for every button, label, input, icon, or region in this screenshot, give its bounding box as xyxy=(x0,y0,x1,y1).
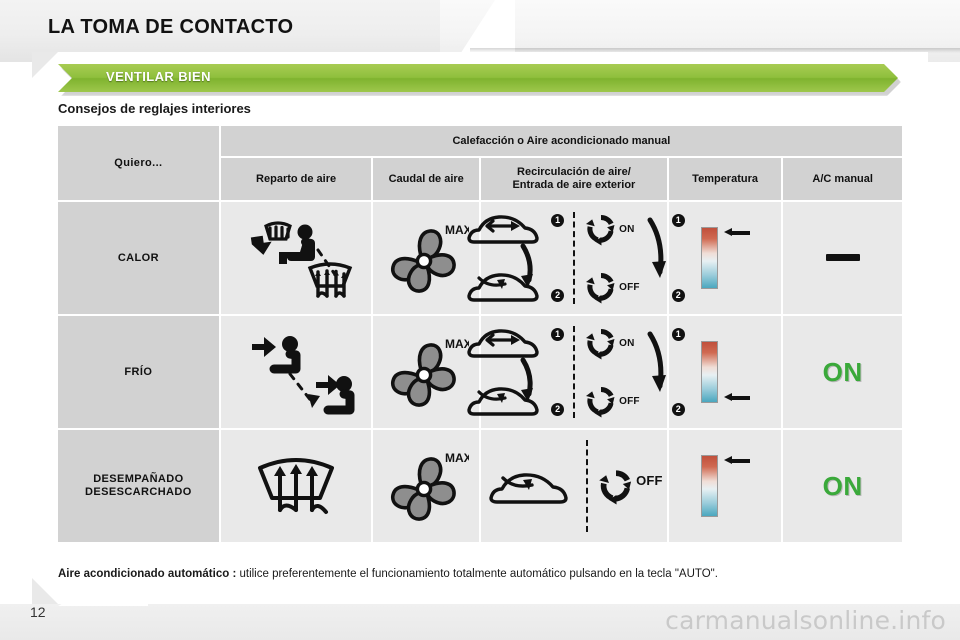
fan-max-label: MAX xyxy=(445,451,469,465)
row-label-line2: DESESCARCHADO xyxy=(85,486,192,498)
header-caudal-de-aire: Caudal de aire xyxy=(373,158,479,200)
recirc-car-group: 1 2 xyxy=(463,210,564,306)
car-fresh-air-icon xyxy=(485,464,577,508)
footer-note-bold: Aire acondicionado automático : xyxy=(58,568,236,580)
header-reparto-de-aire: Reparto de aire xyxy=(221,158,372,200)
recirc-step-number: 1 xyxy=(551,214,564,227)
gauge-arrow-wrap xyxy=(724,456,750,516)
airflow-face-vents-icon xyxy=(232,322,360,422)
recirc-onoff-group: ON xyxy=(584,326,685,418)
header-recirculacion-line2: Entrada de aire exterior xyxy=(512,179,635,191)
arrow-left-icon xyxy=(724,228,750,237)
row-label-frio: FRÍO xyxy=(58,316,219,428)
recirc-step-number: 1 xyxy=(672,328,685,341)
cell-desempanado-ac-manual: ON xyxy=(783,430,902,542)
fan-icon: MAX xyxy=(383,446,469,526)
row-label-line1: DESEMPAÑADO xyxy=(93,473,183,485)
cell-frio-ac-manual: ON xyxy=(783,316,902,428)
recirc-divider xyxy=(573,212,575,304)
recirculation-icon xyxy=(584,212,618,246)
temperature-gauge-icon xyxy=(669,455,782,517)
footer-note: Aire acondicionado automático : utilice … xyxy=(58,566,904,582)
cell-desempanado-reparto xyxy=(221,430,372,542)
cell-desempanado-caudal: MAX xyxy=(373,430,479,542)
recirculation-icon xyxy=(584,270,618,304)
table-row: DESEMPAÑADO DESESCARCHADO xyxy=(58,430,902,542)
recirculation-icon xyxy=(597,467,635,505)
recirc-onoff-group: OFF xyxy=(597,467,663,505)
recirc-step-number: 2 xyxy=(672,289,685,302)
page-title: LA TOMA DE CONTACTO xyxy=(48,16,293,39)
gauge-bar xyxy=(701,227,718,289)
right-margin xyxy=(928,62,960,604)
recirc-onoff-group: ON xyxy=(584,212,685,304)
gauge-bar xyxy=(701,455,718,517)
gauge-arrow-wrap xyxy=(724,228,750,288)
settings-table: Quiero... Calefacción o Aire acondiciona… xyxy=(56,124,904,544)
cell-frio-temperatura xyxy=(669,316,782,428)
header-recirculacion-line1: Recirculación de aire/ xyxy=(517,166,631,178)
recirc-off-label: OFF xyxy=(619,396,640,407)
header-group: Calefacción o Aire acondicionado manual xyxy=(221,126,902,156)
recirc-car-group: 1 2 xyxy=(463,324,564,420)
recirc-off-label: OFF xyxy=(619,282,640,293)
airflow-feet-and-windshield-icon xyxy=(232,210,360,306)
banner-label: VENTILAR BIEN xyxy=(106,69,211,84)
cell-frio-reparto xyxy=(221,316,372,428)
recirc-step-arrow-icon xyxy=(642,326,672,418)
arrow-left-icon xyxy=(724,393,750,402)
recirc-car-group xyxy=(485,464,577,508)
recirc-divider xyxy=(586,440,588,532)
cell-desempanado-temperatura xyxy=(669,430,782,542)
cell-calor-temperatura xyxy=(669,202,782,314)
cell-frio-recirculacion: 1 2 xyxy=(481,316,667,428)
row-label-desempanado: DESEMPAÑADO DESESCARCHADO xyxy=(58,430,219,542)
page-root: LA TOMA DE CONTACTO VENTILAR BIEN Consej… xyxy=(0,0,960,640)
fan-icon: MAX xyxy=(383,332,469,412)
recirc-on-label: ON xyxy=(619,224,634,235)
header-quiero: Quiero... xyxy=(58,126,219,200)
cell-calor-recirculacion: 1 2 xyxy=(481,202,667,314)
cell-calor-reparto xyxy=(221,202,372,314)
section-subtitle: Consejos de reglajes interiores xyxy=(58,101,251,116)
recirc-step-number: 1 xyxy=(672,214,685,227)
footer-note-text: utilice preferentemente el funcionamient… xyxy=(236,568,718,580)
recirculation-icon xyxy=(584,384,618,418)
table-row: FRÍO xyxy=(58,316,902,428)
table-row: CALOR xyxy=(58,202,902,314)
recirc-step-number: 2 xyxy=(551,289,564,302)
section-banner: VENTILAR BIEN xyxy=(58,64,898,94)
table-header-row-1: Quiero... Calefacción o Aire acondiciona… xyxy=(58,126,902,156)
header-recirculacion: Recirculación de aire/ Entrada de aire e… xyxy=(481,158,667,200)
recirc-divider xyxy=(573,326,575,418)
ac-manual-dash-icon xyxy=(826,254,860,261)
recirc-on-label: ON xyxy=(619,338,634,349)
gauge-arrow-wrap xyxy=(724,342,750,402)
car-airflow-steps-icon xyxy=(463,324,549,420)
recirc-step-arrow-icon xyxy=(642,212,672,304)
temperature-gauge-icon xyxy=(669,341,782,403)
recirc-off-label: OFF xyxy=(636,473,663,488)
windshield-defrost-icon xyxy=(250,444,342,528)
page-number: 12 xyxy=(30,604,46,620)
cell-desempanado-recirculacion: OFF xyxy=(481,430,667,542)
fan-icon: MAX xyxy=(383,218,469,298)
ac-manual-status: ON xyxy=(823,471,863,501)
recirc-step-number: 2 xyxy=(672,403,685,416)
car-airflow-steps-icon xyxy=(463,210,549,306)
recirculation-icon xyxy=(584,326,618,360)
gauge-bar xyxy=(701,341,718,403)
header-temperatura: Temperatura xyxy=(669,158,782,200)
left-margin xyxy=(0,62,32,604)
row-label-calor: CALOR xyxy=(58,202,219,314)
watermark: carmanualsonline.info xyxy=(665,606,946,635)
ac-manual-status: ON xyxy=(823,357,863,387)
arrow-left-icon xyxy=(724,456,750,465)
recirc-step-number: 2 xyxy=(551,403,564,416)
header-ac-manual: A/C manual xyxy=(783,158,902,200)
temperature-gauge-icon xyxy=(669,227,782,289)
cell-calor-ac-manual xyxy=(783,202,902,314)
recirc-step-number: 1 xyxy=(551,328,564,341)
